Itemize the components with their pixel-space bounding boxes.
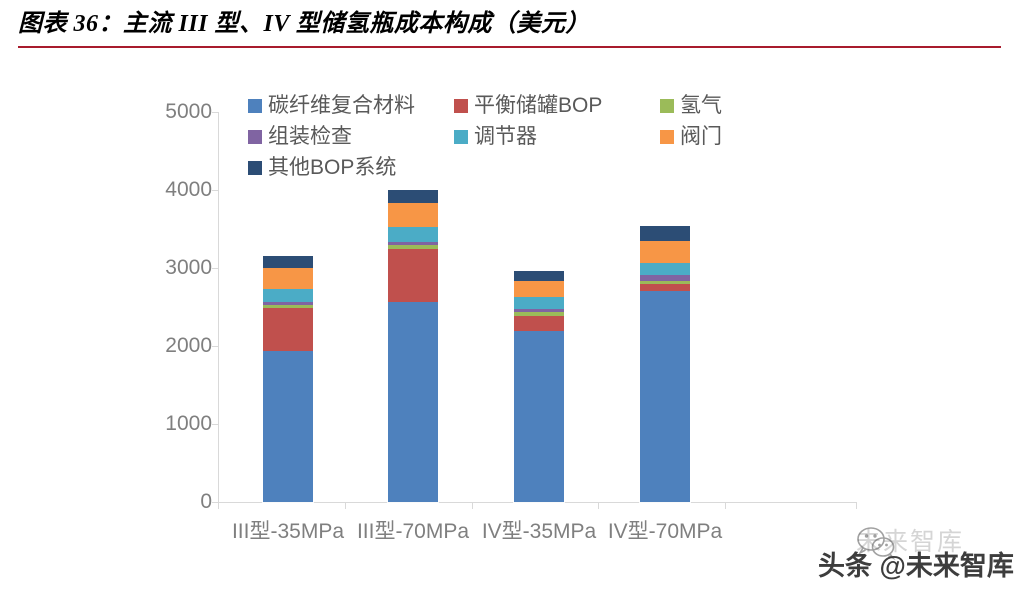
- y-axis-tick: [212, 424, 219, 425]
- legend-item-regulator[interactable]: 调节器: [454, 126, 660, 147]
- bar-segment[interactable]: [640, 241, 690, 263]
- x-axis-tick-label: IV型-70MPa: [585, 521, 745, 542]
- legend-swatch-assembly-inspection: [248, 130, 262, 144]
- bar-segment[interactable]: [514, 271, 564, 281]
- stacked-bar[interactable]: [640, 226, 690, 502]
- legend-label-regulator: 调节器: [474, 126, 537, 147]
- stacked-bar[interactable]: [388, 190, 438, 502]
- bar-segment[interactable]: [640, 263, 690, 275]
- legend-row-3: 其他BOP系统: [248, 152, 768, 183]
- title-divider: [18, 46, 1001, 48]
- stacked-bar[interactable]: [263, 256, 313, 502]
- legend-item-balance-tank-bop[interactable]: 平衡储罐BOP: [454, 95, 660, 116]
- x-axis-tick: [345, 502, 346, 509]
- chart-page: 图表 36：主流 III 型、IV 型储氢瓶成本构成（美元） 500040003…: [0, 0, 1021, 591]
- bar-segment[interactable]: [514, 331, 564, 502]
- legend-label-carbon-fiber: 碳纤维复合材料: [268, 95, 415, 116]
- bar-segment[interactable]: [388, 190, 438, 203]
- bar-segment[interactable]: [263, 351, 313, 502]
- legend-item-other-bop[interactable]: 其他BOP系统: [248, 157, 454, 178]
- legend-swatch-other-bop: [248, 161, 262, 175]
- legend-swatch-balance-tank-bop: [454, 99, 468, 113]
- y-axis-tick: [212, 346, 219, 347]
- bar-segment[interactable]: [388, 249, 438, 302]
- x-axis-tick: [472, 502, 473, 509]
- chart-legend: 碳纤维复合材料 平衡储罐BOP 氢气 组装检查 调节器 阀门: [248, 90, 768, 183]
- page-title: 图表 36：主流 III 型、IV 型储氢瓶成本构成（美元）: [18, 8, 998, 40]
- bar-segment[interactable]: [263, 268, 313, 289]
- y-axis-tick: [212, 190, 219, 191]
- x-axis-tick: [598, 502, 599, 509]
- legend-row-1: 碳纤维复合材料 平衡储罐BOP 氢气: [248, 90, 768, 121]
- bar-segment[interactable]: [263, 289, 313, 301]
- legend-label-assembly-inspection: 组装检查: [268, 126, 352, 147]
- legend-label-hydrogen: 氢气: [680, 95, 722, 116]
- legend-item-hydrogen[interactable]: 氢气: [660, 95, 768, 116]
- legend-swatch-regulator: [454, 130, 468, 144]
- bar-segment[interactable]: [388, 203, 438, 226]
- bar-segment[interactable]: [514, 297, 564, 309]
- legend-label-valve: 阀门: [680, 126, 722, 147]
- legend-item-valve[interactable]: 阀门: [660, 126, 768, 147]
- legend-item-assembly-inspection[interactable]: 组装检查: [248, 126, 454, 147]
- legend-label-balance-tank-bop: 平衡储罐BOP: [474, 95, 602, 116]
- bar-segment[interactable]: [640, 291, 690, 502]
- bar-segment[interactable]: [388, 302, 438, 502]
- y-axis-tick: [212, 112, 219, 113]
- x-axis-labels: III型-35MPaIII型-70MPaIV型-35MPaIV型-70MPa: [0, 513, 1021, 553]
- y-axis-tick: [212, 268, 219, 269]
- x-axis-tick: [856, 502, 857, 509]
- legend-swatch-valve: [660, 130, 674, 144]
- bar-segment[interactable]: [388, 227, 438, 243]
- legend-swatch-carbon-fiber: [248, 99, 262, 113]
- bar-segment[interactable]: [514, 281, 564, 297]
- bar-segment[interactable]: [263, 256, 313, 268]
- bar-segment[interactable]: [263, 308, 313, 352]
- bar-segment[interactable]: [640, 284, 690, 291]
- legend-swatch-hydrogen: [660, 99, 674, 113]
- bar-segment[interactable]: [514, 316, 564, 332]
- x-axis-tick: [725, 502, 726, 509]
- bar-segment[interactable]: [640, 226, 690, 241]
- legend-label-other-bop: 其他BOP系统: [268, 157, 396, 178]
- title-block: 图表 36：主流 III 型、IV 型储氢瓶成本构成（美元）: [18, 8, 998, 40]
- legend-item-carbon-fiber[interactable]: 碳纤维复合材料: [248, 95, 454, 116]
- x-axis-tick: [218, 502, 219, 509]
- legend-row-2: 组装检查 调节器 阀门: [248, 121, 768, 152]
- stacked-bar[interactable]: [514, 271, 564, 502]
